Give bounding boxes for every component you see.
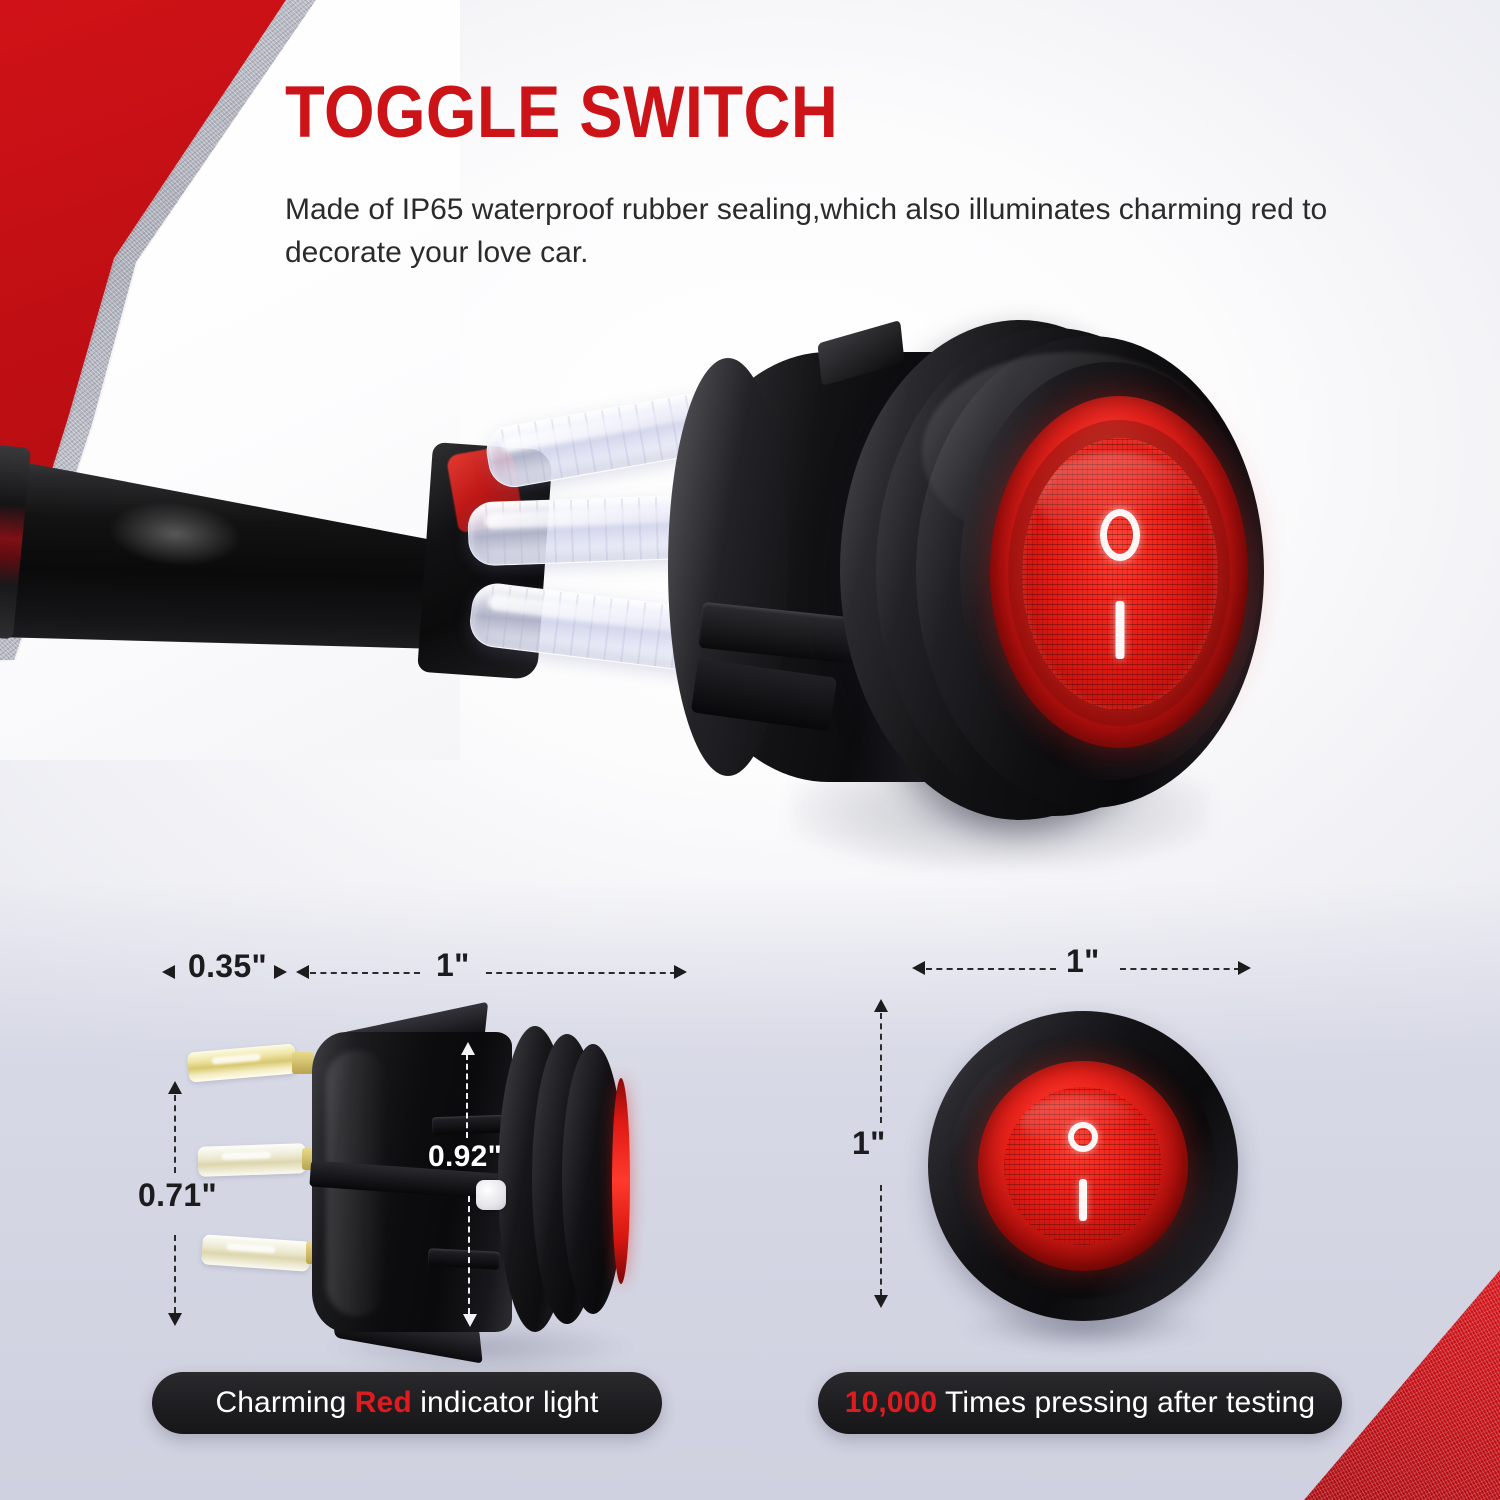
dim-height-dash-upper: [880, 1013, 882, 1123]
side-view-slot-upper: [432, 1115, 505, 1136]
dimension-label-height: 1": [852, 1125, 886, 1162]
caption-pill-indicator-light: Charming Red indicator light: [152, 1372, 662, 1434]
dim-1in-dash-left: [310, 972, 420, 974]
front-view-switch-graphic: [928, 1011, 1258, 1341]
dimension-label-width: 1": [1066, 943, 1100, 980]
dim-092-dash-lower: [468, 1196, 470, 1314]
dim-092-arrow-down: [463, 1314, 477, 1327]
dimension-label-depth-body: 1": [436, 947, 470, 984]
dim-071-dash-upper: [174, 1095, 176, 1173]
dim-width-dash-left: [926, 968, 1056, 970]
power-off-symbol-icon: [1100, 509, 1140, 561]
dimension-label-depth-terminal: 0.35": [188, 948, 267, 985]
hero-product-illustration: [0, 250, 1500, 930]
page-title: TOGGLE SWITCH: [285, 78, 1282, 147]
spade-terminal-3: [201, 1234, 311, 1271]
caption-right-accent: 10,000: [845, 1386, 937, 1419]
cable-highlight: [108, 497, 243, 570]
side-view-slot-lower: [428, 1248, 501, 1270]
caption-left-post: indicator light: [412, 1386, 599, 1419]
dim-height-arrow-up: [874, 999, 888, 1012]
dim-1in-arrow-right: [674, 965, 687, 979]
caption-right-post: Times pressing after testing: [937, 1386, 1315, 1419]
front-view-panel: 1" 1": [850, 945, 1390, 1365]
infographic-canvas: TOGGLE SWITCH Made of IP65 waterproof ru…: [0, 0, 1500, 1500]
dim-height-dash-lower: [880, 1185, 882, 1295]
dim-width-arrow-right: [1238, 961, 1251, 975]
caption-left-text: Charming Red indicator light: [216, 1386, 599, 1420]
caption-left-accent: Red: [355, 1386, 412, 1419]
terminal-stem-1: [292, 1052, 314, 1074]
dim-071-dash-lower: [174, 1235, 176, 1313]
dim-092-dash-upper: [466, 1054, 468, 1138]
caption-pill-press-testing: 10,000 Times pressing after testing: [818, 1372, 1342, 1434]
dim-1in-dash-right: [486, 972, 676, 974]
side-red-illuminated-edge: [612, 1078, 630, 1284]
power-off-symbol-icon: [1068, 1122, 1098, 1152]
front-rocker-face[interactable]: [1004, 1087, 1162, 1245]
dimension-label-body-height: 0.92": [428, 1140, 502, 1174]
dim-width-arrow-left: [912, 961, 925, 975]
caption-left-pre: Charming: [216, 1386, 355, 1419]
dim-092-arrow-up: [461, 1042, 475, 1055]
spade-terminal-1: [187, 1043, 297, 1082]
side-view-white-dot: [476, 1180, 506, 1210]
dim-035-arrow-left: [162, 965, 175, 979]
power-on-symbol-icon: [1079, 1179, 1087, 1221]
rocker-face-illuminated[interactable]: [1022, 438, 1218, 710]
dim-035-arrow-right: [274, 965, 287, 979]
side-view-panel: 0.35" 1" 0.71": [140, 945, 720, 1365]
dim-1in-arrow-left: [296, 965, 309, 979]
spade-terminal-2: [198, 1143, 307, 1177]
header-block: TOGGLE SWITCH Made of IP65 waterproof ru…: [285, 78, 1405, 275]
dim-width-dash-right: [1120, 968, 1240, 970]
power-on-symbol-icon: [1116, 601, 1125, 659]
hero-switch: [660, 270, 1280, 890]
caption-right-text: 10,000 Times pressing after testing: [845, 1386, 1315, 1420]
side-view-switch-graphic: 0.92": [180, 1020, 700, 1340]
dim-height-arrow-down: [874, 1295, 888, 1308]
